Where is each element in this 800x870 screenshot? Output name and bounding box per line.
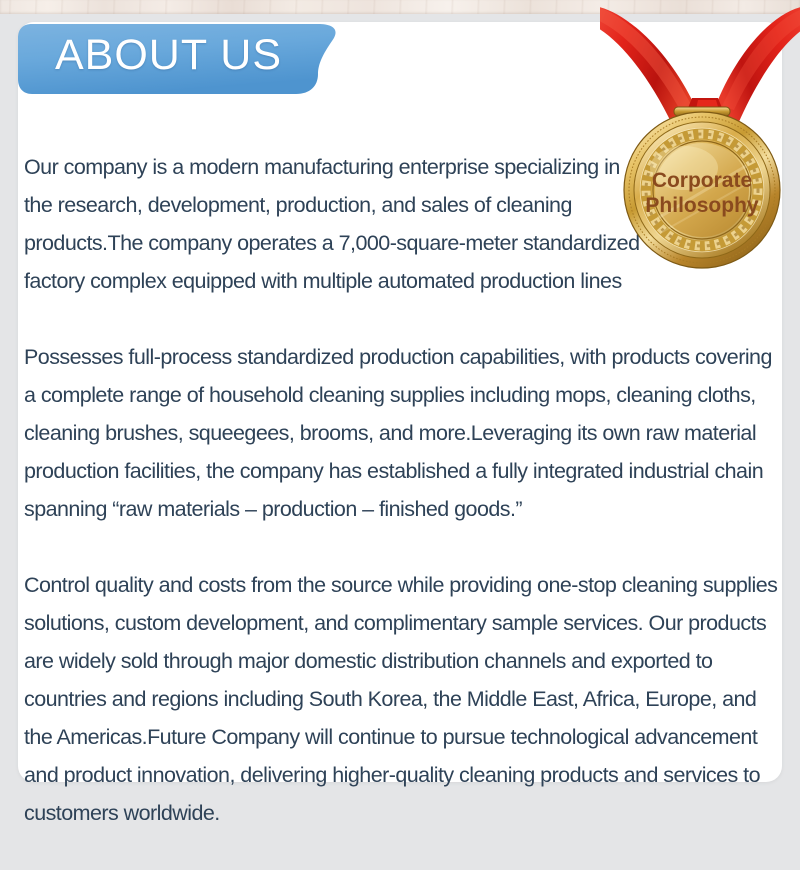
medal-line1: Corporate — [652, 169, 752, 192]
paragraph-3: Control quality and costs from the sourc… — [24, 566, 780, 832]
medal-line2: Philosophy — [645, 194, 758, 217]
medal-graphic: Corporate Philosophy — [600, 0, 800, 290]
paragraph-1: Our company is a modern manufacturing en… — [24, 148, 644, 300]
corporate-philosophy-medal: Corporate Philosophy — [600, 0, 800, 290]
page-title: ABOUT US — [55, 34, 282, 77]
paragraph-2: Possesses full-process standardized prod… — [24, 338, 780, 528]
